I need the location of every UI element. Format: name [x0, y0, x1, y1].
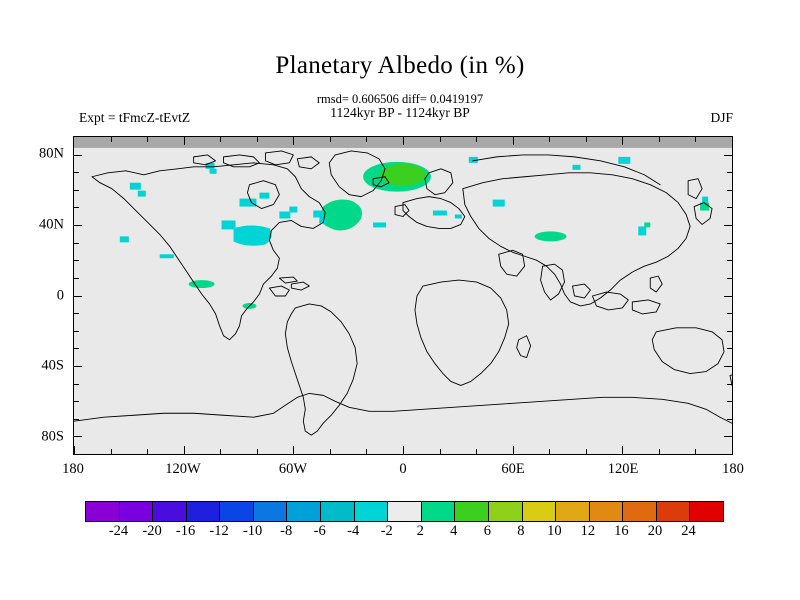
anomaly-patch: [189, 280, 215, 288]
colorbar-tick-label: -10: [243, 523, 262, 540]
x-tick: [330, 449, 331, 454]
x-tick-top: [330, 137, 331, 142]
y-axis-label: 40N: [14, 216, 64, 233]
colorbar-tick-label: 16: [614, 523, 629, 540]
y-tick: [74, 436, 82, 437]
y-tick-right: [727, 207, 732, 208]
y-tick-right: [727, 190, 732, 191]
anomaly-patch: [493, 200, 505, 207]
x-tick: [403, 446, 404, 454]
x-tick-top: [293, 137, 294, 145]
colorbar-cell: [220, 502, 254, 521]
planetary-albedo-figure: Planetary Albedo (in %) rmsd= 0.606506 d…: [0, 0, 800, 600]
colorbar-cell: [388, 502, 422, 521]
x-axis-label: 120E: [608, 461, 639, 478]
anomaly-patch: [702, 197, 708, 203]
x-tick: [513, 446, 514, 454]
map-plot-area: [73, 136, 733, 455]
x-tick-top: [476, 137, 477, 142]
y-tick: [74, 155, 82, 156]
anomaly-patch: [222, 220, 236, 229]
anomaly-patch: [313, 211, 323, 218]
x-tick: [220, 449, 221, 454]
y-axis-label: 40S: [14, 358, 64, 375]
y-tick-right: [727, 348, 732, 349]
y-tick-right: [727, 419, 732, 420]
colorbar-tick-label: 4: [450, 523, 457, 540]
colorbar-cell: [321, 502, 355, 521]
y-tick-right: [727, 243, 732, 244]
anomaly-patch: [618, 157, 630, 164]
x-tick: [293, 446, 294, 454]
colorbar-cell: [120, 502, 154, 521]
y-axis-label: 80N: [14, 145, 64, 162]
colorbar-tick-label: -24: [109, 523, 128, 540]
x-tick: [695, 449, 696, 454]
colorbar-tick-label: 24: [681, 523, 696, 540]
y-tick-right: [727, 384, 732, 385]
y-tick: [74, 172, 79, 173]
colorbar-tick-label: 2: [417, 523, 424, 540]
x-tick-top: [111, 137, 112, 142]
y-tick: [74, 260, 79, 261]
anomaly-patch: [572, 165, 580, 170]
anomaly-patch: [210, 169, 217, 174]
anomaly-patch: [289, 207, 297, 213]
x-tick-top: [257, 137, 258, 142]
colorbar-tick-label: -8: [280, 523, 292, 540]
x-tick-top: [695, 137, 696, 142]
anomaly-patch: [259, 193, 269, 199]
y-tick: [74, 243, 79, 244]
anomaly-patch: [373, 222, 386, 227]
x-tick: [366, 449, 367, 454]
anomaly-patch: [380, 164, 426, 186]
x-tick: [549, 449, 550, 454]
colorbar-tick-label: 12: [581, 523, 596, 540]
anomaly-patch: [206, 163, 215, 169]
x-tick-top: [184, 137, 185, 145]
y-tick-right: [727, 401, 732, 402]
anomaly-patch: [638, 226, 646, 235]
y-axis-label: 0: [14, 287, 64, 304]
colorbar-tick-label: 10: [547, 523, 562, 540]
x-tick-top: [513, 137, 514, 145]
x-tick-top: [403, 137, 404, 145]
anomaly-patch: [120, 236, 129, 242]
y-tick: [74, 384, 79, 385]
y-tick-right: [724, 366, 732, 367]
x-tick: [257, 449, 258, 454]
colorbar-cell: [455, 502, 489, 521]
anomaly-patch: [138, 191, 146, 197]
colorbar-cell: [153, 502, 187, 521]
colorbar-tick-label: -2: [381, 523, 393, 540]
x-axis-label: 180: [62, 461, 84, 478]
season-label: DJF: [710, 110, 733, 126]
anomaly-patch: [455, 215, 462, 219]
x-tick: [586, 449, 587, 454]
x-tick-top: [622, 137, 623, 145]
colorbar-cell: [422, 502, 456, 521]
colorbar-tick-label: -4: [347, 523, 359, 540]
y-tick: [74, 366, 82, 367]
colorbar-cell: [556, 502, 590, 521]
y-tick: [74, 313, 79, 314]
y-tick-right: [727, 260, 732, 261]
y-tick-right: [724, 436, 732, 437]
y-tick: [74, 296, 82, 297]
x-axis-label: 60E: [501, 461, 524, 478]
y-tick: [74, 225, 82, 226]
y-tick-right: [727, 313, 732, 314]
x-axis-label: 60W: [279, 461, 307, 478]
x-tick-top: [366, 137, 367, 142]
colorbar-tick-label: -16: [176, 523, 195, 540]
colorbar-tick-label: -6: [314, 523, 326, 540]
anomaly-patch: [160, 254, 174, 258]
colorbar-cell: [254, 502, 288, 521]
x-tick: [147, 449, 148, 454]
colorbar-tick-label: 20: [648, 523, 663, 540]
x-tick-top: [147, 137, 148, 142]
y-tick: [74, 348, 79, 349]
y-tick: [74, 207, 79, 208]
x-tick: [659, 449, 660, 454]
colorbar-tick-label: 6: [484, 523, 491, 540]
y-tick: [74, 419, 79, 420]
anomaly-patch: [130, 183, 141, 190]
x-tick: [184, 446, 185, 454]
anomaly-patch: [279, 212, 290, 219]
y-tick-right: [727, 172, 732, 173]
x-axis-label: 0: [399, 461, 406, 478]
x-axis-label: 120W: [165, 461, 200, 478]
x-tick-top: [659, 137, 660, 142]
y-tick-right: [727, 331, 732, 332]
colorbar-cell: [657, 502, 691, 521]
y-tick-right: [724, 296, 732, 297]
page-title: Planetary Albedo (in %): [0, 52, 800, 80]
colorbar-cell: [523, 502, 557, 521]
colorbar-cell: [590, 502, 624, 521]
y-tick-right: [727, 278, 732, 279]
x-tick: [74, 446, 75, 454]
colorbar-cell: [86, 502, 120, 521]
y-tick-right: [724, 225, 732, 226]
x-tick: [622, 446, 623, 454]
x-axis-label: 180: [722, 461, 744, 478]
anomaly-patch: [535, 231, 567, 241]
anomaly-patch: [644, 222, 650, 227]
anomaly-patch: [433, 211, 447, 216]
y-tick: [74, 401, 79, 402]
colorbar-tick-label: -12: [209, 523, 228, 540]
colorbar-labels: -24-20-16-12-10-8-6-4-224681012162024: [85, 523, 722, 545]
colorbar-tick-label: 8: [517, 523, 524, 540]
x-tick-top: [220, 137, 221, 142]
x-tick-top: [440, 137, 441, 142]
experiment-label: Expt = tFmcZ-tEvtZ: [79, 110, 190, 126]
x-tick-top: [586, 137, 587, 142]
colorbar-cell: [287, 502, 321, 521]
y-tick: [74, 331, 79, 332]
y-tick: [74, 278, 79, 279]
y-axis-label: 80S: [14, 429, 64, 446]
anomaly-patch: [239, 199, 256, 207]
colorbar-cell: [355, 502, 389, 521]
colorbar: [85, 501, 724, 522]
y-tick: [74, 190, 79, 191]
colorbar-cell: [690, 502, 723, 521]
world-map: [74, 137, 732, 454]
colorbar-cell: [187, 502, 221, 521]
x-tick: [111, 449, 112, 454]
x-tick: [440, 449, 441, 454]
colorbar-cell: [623, 502, 657, 521]
colorbar-cell: [489, 502, 523, 521]
x-tick: [476, 449, 477, 454]
x-tick-top: [549, 137, 550, 142]
y-tick-right: [724, 155, 732, 156]
colorbar-tick-label: -20: [142, 523, 161, 540]
anomaly-patch: [234, 225, 272, 245]
